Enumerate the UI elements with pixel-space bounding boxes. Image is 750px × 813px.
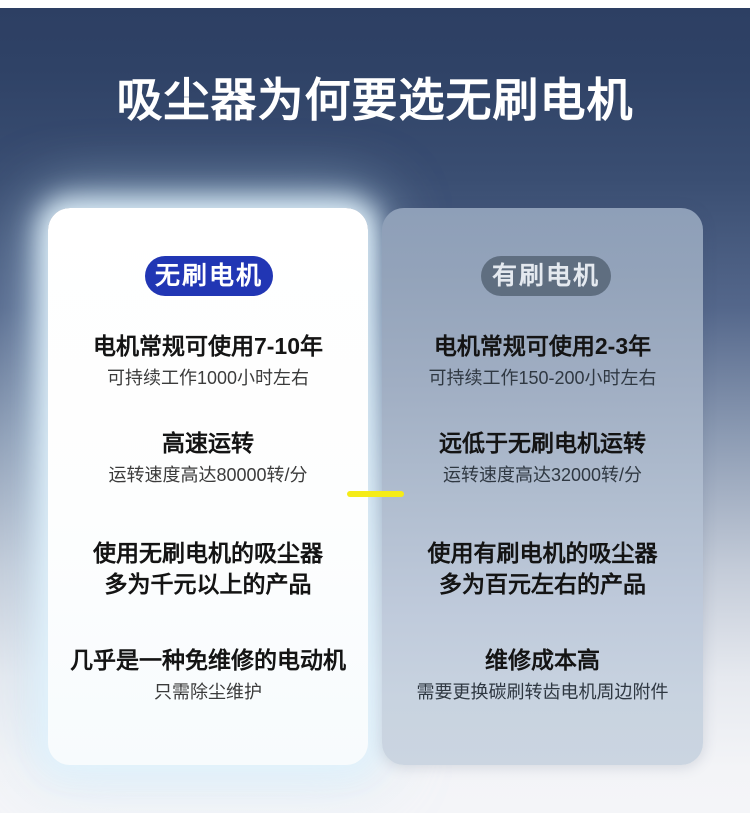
feature-main-text: 电机常规可使用2-3年 (382, 331, 703, 362)
feature-sub-text: 可持续工作1000小时左右 (48, 365, 368, 391)
feature-lifespan-brushed: 电机常规可使用2-3年 可持续工作150-200小时左右 (382, 331, 703, 391)
feature-sub-text: 运转速度高达32000转/分 (382, 462, 703, 488)
feature-main-line1: 使用无刷电机的吸尘器 (48, 538, 368, 569)
feature-maintenance-brushed: 维修成本高 需要更换碳刷转齿电机周边附件 (382, 645, 703, 705)
badge-brushless: 无刷电机 (145, 256, 273, 296)
badge-brushed: 有刷电机 (481, 256, 611, 296)
feature-speed-brushed: 远低于无刷电机运转 运转速度高达32000转/分 (382, 428, 703, 488)
feature-main-line2: 多为千元以上的产品 (48, 569, 368, 600)
yellow-divider-bar (347, 491, 404, 497)
feature-sub-text: 只需除尘维护 (48, 679, 368, 705)
feature-maintenance-brushless: 几乎是一种免维修的电动机 只需除尘维护 (48, 645, 368, 705)
feature-main-text: 高速运转 (48, 428, 368, 459)
feature-price-brushed: 使用有刷电机的吸尘器 多为百元左右的产品 (382, 538, 703, 600)
feature-sub-text: 需要更换碳刷转齿电机周边附件 (382, 679, 703, 705)
feature-main-line1: 使用有刷电机的吸尘器 (382, 538, 703, 569)
feature-main-text: 电机常规可使用7-10年 (48, 331, 368, 362)
feature-main-text: 几乎是一种免维修的电动机 (48, 645, 368, 676)
feature-speed-brushless: 高速运转 运转速度高达80000转/分 (48, 428, 368, 488)
feature-main-line2: 多为百元左右的产品 (382, 569, 703, 600)
feature-price-brushless: 使用无刷电机的吸尘器 多为千元以上的产品 (48, 538, 368, 600)
comparison-cards: 无刷电机 有刷电机 电机常规可使用7-10年 可持续工作1000小时左右 高速运… (0, 0, 750, 813)
feature-lifespan-brushless: 电机常规可使用7-10年 可持续工作1000小时左右 (48, 331, 368, 391)
feature-main-text: 远低于无刷电机运转 (382, 428, 703, 459)
feature-sub-text: 运转速度高达80000转/分 (48, 462, 368, 488)
feature-sub-text: 可持续工作150-200小时左右 (382, 365, 703, 391)
feature-main-text: 维修成本高 (382, 645, 703, 676)
poster-root: 吸尘器为何要选无刷电机 无刷电机 有刷电机 电机常规可使用7-10年 可持续工作… (0, 0, 750, 813)
